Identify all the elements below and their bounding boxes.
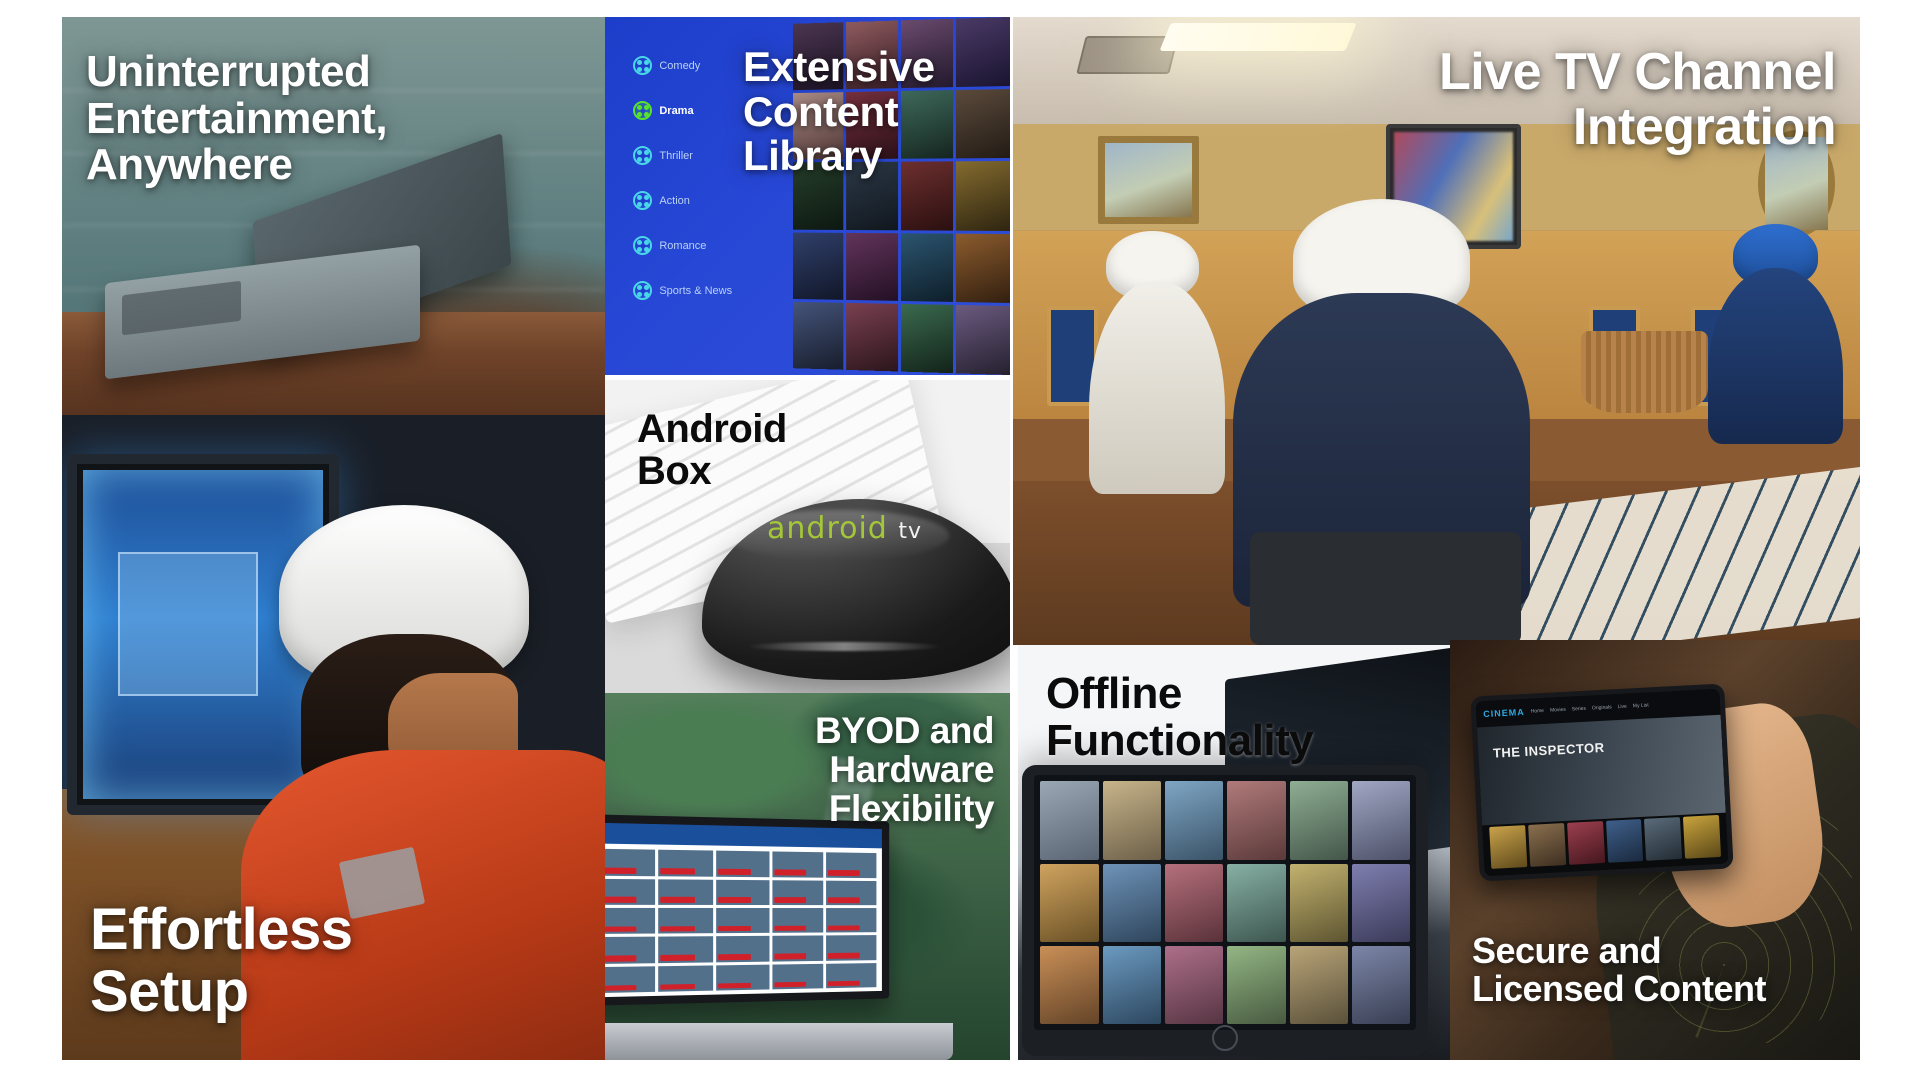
panel-android-box[interactable]: android tv Android Box: [605, 380, 1010, 693]
panel-uninterrupted-entertainment[interactable]: Uninterrupted Entertainment, Anywhere: [62, 17, 605, 415]
genre-item-sports-news[interactable]: Sports & News: [633, 281, 811, 300]
genre-item-action[interactable]: Action: [633, 191, 811, 210]
tablet-device: [1022, 765, 1428, 1056]
monitor-window: [118, 552, 259, 695]
tablet-home-button[interactable]: [1212, 1025, 1238, 1051]
ceiling-lamp: [1160, 23, 1358, 51]
genre-label: Sports & News: [659, 285, 732, 297]
phone-carousel[interactable]: [1489, 815, 1720, 869]
film-reel-icon: [633, 281, 652, 300]
film-reel-icon: [633, 191, 652, 210]
nav-link[interactable]: Movies: [1549, 707, 1565, 714]
panel-extensive-content-library[interactable]: Comedy Drama Thriller Action Romance Spo…: [605, 17, 1010, 375]
caption-offline-functionality: Offline Functionality: [1046, 671, 1313, 764]
android-tv-logo: android tv: [767, 511, 922, 546]
film-reel-icon: [633, 101, 652, 120]
caption-live-tv-channel-integration: Live TV Channel Integration: [1439, 45, 1836, 155]
tablet-screen: [1034, 775, 1416, 1030]
genre-label: Romance: [659, 240, 706, 252]
panel-effortless-setup[interactable]: Effortless Setup: [62, 415, 605, 1060]
caption-android-box: Android Box: [637, 408, 787, 493]
laptop-screen: [605, 814, 889, 1005]
genre-label: Thriller: [659, 150, 693, 162]
phone-hero-banner: [1477, 715, 1726, 826]
nav-link[interactable]: Live: [1617, 704, 1626, 710]
wall-picture-left: [1098, 136, 1200, 224]
chair-primary: [1250, 532, 1521, 645]
film-reel-icon: [633, 236, 652, 255]
panel-live-tv-channel-integration[interactable]: Live TV Channel Integration: [1013, 17, 1860, 645]
caption-secure-licensed-content: Secure and Licensed Content: [1472, 932, 1766, 1008]
laptop-base: [605, 1023, 953, 1060]
genre-label: Action: [659, 195, 690, 207]
film-reel-icon: [633, 146, 652, 165]
app-brand-logo: CINEMA: [1483, 707, 1525, 719]
caption-effortless-setup: Effortless Setup: [90, 899, 353, 1022]
android-tv-logo-text: android tv: [767, 511, 922, 546]
panel-offline-functionality[interactable]: Offline Functionality: [1018, 645, 1450, 1060]
genre-label: Comedy: [659, 60, 700, 72]
caption-uninterrupted-entertainment: Uninterrupted Entertainment, Anywhere: [86, 49, 387, 189]
caption-extensive-content-library: Extensive Content Library: [743, 45, 935, 179]
nav-link[interactable]: Originals: [1591, 705, 1611, 712]
caption-byod-hardware-flexibility: BYOD and Hardware Flexibility: [815, 711, 994, 829]
panel-secure-licensed-content[interactable]: CINEMA Home Movies Series Originals Live…: [1450, 640, 1860, 1060]
nav-link[interactable]: Home: [1530, 708, 1544, 715]
nav-link[interactable]: My List: [1632, 703, 1648, 710]
bread-basket: [1581, 331, 1708, 413]
film-reel-icon: [633, 56, 652, 75]
collage-board: Uninterrupted Entertainment, Anywhere: [0, 0, 1920, 1080]
channel-grid: [605, 849, 876, 993]
genre-item-romance[interactable]: Romance: [633, 236, 811, 255]
panel-byod-hardware-flexibility[interactable]: BYOD and Hardware Flexibility: [605, 693, 1010, 1060]
genre-label: Drama: [659, 105, 693, 117]
nav-link[interactable]: Series: [1571, 706, 1585, 713]
smartphone: CINEMA Home Movies Series Originals Live…: [1470, 684, 1734, 882]
